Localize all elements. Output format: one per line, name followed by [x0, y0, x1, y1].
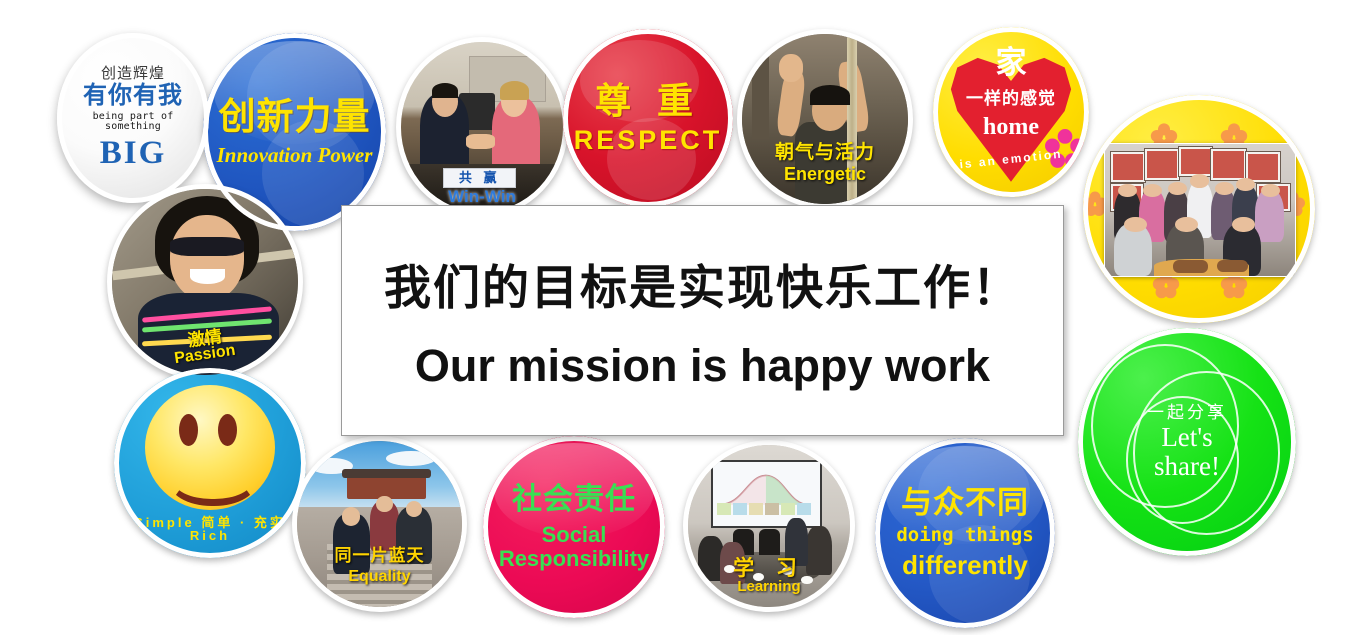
photo-face	[170, 215, 244, 301]
badge-energetic-line1: 朝气与活力	[742, 143, 908, 163]
badge-share-line1: 一起分享	[1085, 404, 1290, 422]
badge-respect[interactable]: 尊 重 RESPECT	[563, 29, 733, 207]
badge-simple-and-rich[interactable]: Simple 简单 · 充实 Rich	[114, 368, 306, 558]
badge-lets-share[interactable]: 一起分享 Let's share!	[1078, 328, 1296, 556]
wall-picture	[1145, 149, 1179, 179]
badge-innovation-line2: Innovation Power	[208, 144, 380, 166]
photo-ok-hand	[779, 54, 804, 81]
photo-cloud	[386, 451, 436, 466]
wall-picture	[1179, 147, 1212, 176]
badge-big-line2: 有你有我	[62, 83, 205, 108]
slide-bell-curve-icon	[717, 471, 811, 507]
wall-picture	[1246, 152, 1280, 182]
badge-winwin-line2: Win-Win	[401, 188, 563, 206]
badge-respect-line2: RESPECT	[568, 126, 728, 154]
group-person	[1255, 189, 1284, 242]
badge-smile-line1: Simple 简单 · 充实 Rich	[114, 516, 306, 543]
badge-share-line3: share!	[1085, 452, 1290, 480]
group-person-head	[1118, 184, 1137, 197]
group-person-head	[1261, 184, 1280, 197]
badge-social-line1: 社会责任	[488, 484, 659, 516]
badge-respect-line1: 尊 重	[568, 82, 728, 120]
badge-home-is-an-emotion[interactable]: 家 一样的感觉 home is an emotion	[933, 27, 1089, 197]
badge-learning-line2: Learning	[688, 579, 850, 595]
photo-tree	[752, 34, 769, 139]
badge-equality-line1: 同一片蓝天	[297, 547, 462, 565]
photo-hair	[810, 85, 850, 105]
badge-big-line4: BIG	[62, 136, 205, 171]
badge-learning-line1: 学 习	[688, 558, 850, 580]
badge-big-line3: being part of something	[62, 112, 205, 133]
slide-cells	[717, 503, 811, 514]
sunglasses-icon	[170, 237, 244, 256]
smiley-eye-right	[218, 414, 237, 446]
badge-being-part-of-something-big[interactable]: 创造辉煌 有你有我 being part of something BIG	[57, 33, 209, 203]
group-photo-frame	[1104, 143, 1296, 277]
badge-energetic[interactable]: 朝气与活力 Energetic	[737, 29, 913, 209]
badge-learning[interactable]: 学 习 Learning	[683, 440, 855, 612]
badge-home-line3: home	[933, 115, 1089, 140]
wall-picture	[1111, 152, 1145, 182]
badge-differently-line1: 与众不同	[880, 487, 1049, 520]
values-collage: 创造辉煌 有你有我 being part of something BIG 创新…	[0, 0, 1366, 635]
photo-person-head	[342, 507, 360, 525]
badge-differently-line2: doing things	[880, 526, 1049, 546]
group-person-head	[1190, 174, 1209, 187]
badge-innovation-line1: 创新力量	[208, 98, 380, 137]
badge-doing-things-differently[interactable]: 与众不同 doing things differently	[875, 438, 1055, 628]
badge-winwin-line1: 共 赢	[459, 171, 501, 185]
photo-hair-right	[500, 81, 529, 100]
badge-home-line2: 一样的感觉	[933, 90, 1089, 108]
group-person-head	[1124, 217, 1147, 233]
badge-equality[interactable]: 同一片蓝天 Equality	[292, 436, 467, 612]
birthday-cake	[1173, 260, 1207, 273]
badge-passion[interactable]: 激情 Passion	[107, 184, 303, 380]
mission-line-cn: 我们的目标是实现快乐工作！	[384, 249, 1021, 318]
group-person-head	[1143, 184, 1162, 197]
badge-equality-line2: Equality	[297, 569, 462, 586]
wall-picture	[1211, 149, 1245, 179]
badge-home-line1: 家	[933, 47, 1089, 80]
birthday-cake	[1217, 260, 1247, 272]
badge-differently-line3: differently	[880, 552, 1049, 579]
badge-winwin-nameplate: 共 赢	[443, 168, 516, 189]
badge-social-line3: Responsibility	[488, 547, 659, 570]
mission-banner: 我们的目标是实现快乐工作！ Our mission is happy work	[341, 205, 1064, 436]
badge-energetic-line2: Energetic	[742, 165, 908, 184]
photo-smile	[190, 269, 225, 284]
photo-temple-roof	[342, 469, 431, 477]
mission-line-en: Our mission is happy work	[415, 340, 990, 392]
badge-team-group-photo[interactable]	[1083, 95, 1315, 323]
badge-win-win[interactable]: 共 赢 Win-Win	[396, 37, 568, 217]
badge-social-responsibility[interactable]: 社会责任 Social Responsibility	[483, 436, 665, 618]
photo-hair-left	[432, 83, 458, 98]
photo-chair	[759, 529, 780, 555]
badge-share-line2: Let's	[1085, 423, 1290, 451]
badge-social-line2: Social	[488, 523, 659, 546]
smiley-mouth	[168, 452, 259, 507]
photo-handshake	[466, 134, 495, 149]
badge-big-line1: 创造辉煌	[62, 66, 205, 82]
photo-person-head	[376, 496, 393, 513]
